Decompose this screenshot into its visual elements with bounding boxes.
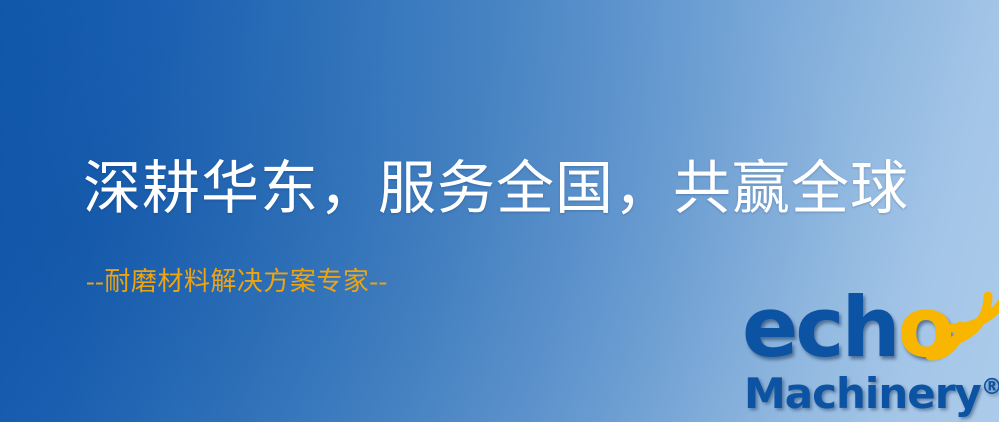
logo-wordmark: echo <box>742 286 952 369</box>
promo-banner: 深耕华东，服务全国，共赢全球 --耐磨材料解决方案专家-- echo Machi… <box>0 0 999 422</box>
company-logo[interactable]: echo Machinery® <box>736 292 999 422</box>
registered-trademark-icon: ® <box>981 375 999 400</box>
logo-tagline-text: Machinery <box>744 369 981 418</box>
banner-subtitle: --耐磨材料解决方案专家-- <box>86 266 388 298</box>
banner-headline: 深耕华东，服务全国，共赢全球 <box>83 154 909 224</box>
signal-waves-icon <box>922 288 999 362</box>
logo-tagline: Machinery® <box>744 366 999 416</box>
logo-wordmark-dark-part: ech <box>742 279 898 376</box>
